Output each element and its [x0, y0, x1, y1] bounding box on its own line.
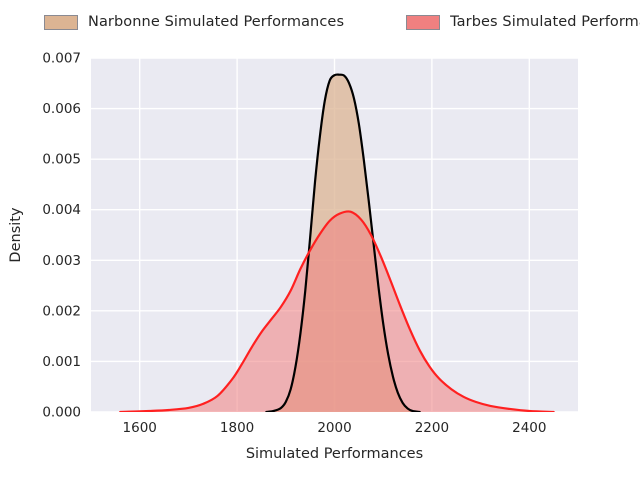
legend-swatch-tarbes [406, 15, 440, 30]
y-tick-label: 0.006 [42, 101, 81, 117]
y-tick-label: 0.003 [42, 253, 81, 269]
legend-entry-tarbes[interactable]: Tarbes Simulated Performances [406, 14, 640, 30]
x-tick-label: 1600 [123, 420, 157, 436]
y-tick-label: 0.001 [42, 354, 81, 370]
legend-label-tarbes: Tarbes Simulated Performances [450, 14, 640, 30]
y-tick-label: 0.002 [42, 303, 81, 319]
legend-label-narbonne: Narbonne Simulated Performances [88, 14, 344, 30]
y-tick-labels: 0.0000.0010.0020.0030.0040.0050.0060.007 [42, 51, 81, 421]
legend-entry-narbonne[interactable]: Narbonne Simulated Performances [44, 14, 344, 30]
legend-swatch-narbonne [44, 15, 78, 30]
y-axis-label: Density [8, 207, 24, 263]
y-tick-label: 0.007 [42, 51, 81, 67]
x-tick-label: 2000 [317, 420, 351, 436]
x-axis-label: Simulated Performances [246, 446, 423, 462]
x-tick-label: 2400 [512, 420, 546, 436]
plot-canvas: 16001800200022002400 0.0000.0010.0020.00… [0, 0, 640, 480]
x-tick-label: 2200 [415, 420, 449, 436]
x-tick-labels: 16001800200022002400 [123, 420, 547, 436]
y-tick-label: 0.000 [42, 405, 81, 421]
kde-density-figure: 16001800200022002400 0.0000.0010.0020.00… [0, 0, 640, 480]
y-tick-label: 0.005 [42, 152, 81, 168]
y-tick-label: 0.004 [42, 202, 81, 218]
x-tick-label: 1800 [220, 420, 254, 436]
